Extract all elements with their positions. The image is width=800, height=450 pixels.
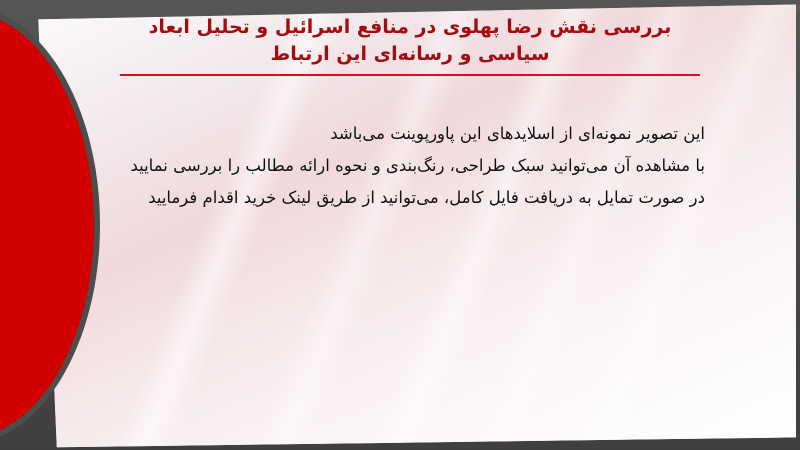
- title-line-1: بررسی نقش رضا پهلوی در منافع اسرائیل و ت…: [120, 14, 700, 41]
- body-line-3: در صورت تمایل به دریافت فایل کامل، می‌تو…: [95, 182, 705, 214]
- slide-body-text: این تصویر نمونه‌ای از اسلایدهای این پاور…: [95, 118, 705, 214]
- body-line-2: با مشاهده آن می‌توانید سبک طراحی، رنگ‌بن…: [95, 150, 705, 182]
- presentation-slide: بررسی نقش رضا پهلوی در منافع اسرائیل و ت…: [0, 0, 800, 450]
- title-line-2: سیاسی و رسانه‌ای این ارتباط: [120, 41, 700, 68]
- title-underline-rule: [120, 74, 700, 76]
- slide-title: بررسی نقش رضا پهلوی در منافع اسرائیل و ت…: [120, 14, 700, 76]
- body-line-1: این تصویر نمونه‌ای از اسلایدهای این پاور…: [95, 118, 705, 150]
